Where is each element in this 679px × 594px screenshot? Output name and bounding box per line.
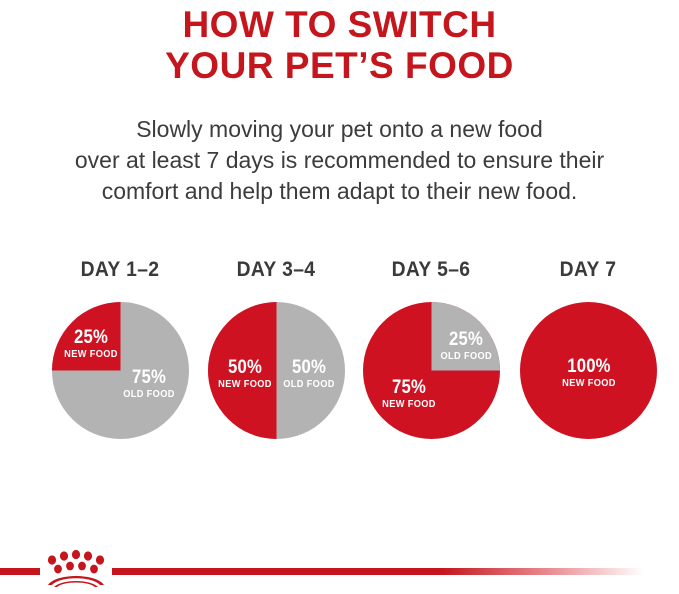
slice-label-old-food-3: 25% OLD FOOD	[440, 330, 491, 362]
slice-label-new-food-1: 25% NEW FOOD	[64, 328, 119, 360]
slice-label-new-food-4: 100% NEW FOOD	[560, 357, 618, 389]
slice-value-new-food-1: 25%	[64, 328, 119, 347]
pie-chart-row: DAY 1–2 25% NEW FOOD 75% OLD FOOD DAY 3–…	[0, 258, 679, 448]
pie-graphic-2: 50% NEW FOOD 50% OLD FOOD	[208, 302, 345, 439]
slice-label-old-food-1: 75% OLD FOOD	[120, 368, 178, 400]
slice-value-new-food-2: 50%	[218, 358, 273, 377]
title-line-1: HOW TO SWITCH	[0, 4, 679, 45]
subtitle-line-2: over at least 7 days is recommended to e…	[0, 145, 679, 176]
slice-name-new-food-1: NEW FOOD	[64, 349, 119, 360]
pie-chart-day-7: DAY 7 100% NEW FOOD	[508, 258, 668, 448]
slice-name-new-food-2: NEW FOOD	[218, 379, 273, 390]
slice-label-new-food-2: 50% NEW FOOD	[218, 358, 273, 390]
subtitle: Slowly moving your pet onto a new food o…	[0, 114, 679, 207]
subtitle-line-3: comfort and help them adapt to their new…	[0, 176, 679, 207]
title-line-2: YOUR PET’S FOOD	[0, 45, 679, 86]
slice-name-new-food-4: NEW FOOD	[560, 378, 618, 389]
day-label-2: DAY 3–4	[202, 258, 349, 282]
pie-graphic-3: 75% NEW FOOD 25% OLD FOOD	[363, 302, 500, 439]
page-title: HOW TO SWITCH YOUR PET’S FOOD	[0, 4, 679, 86]
royal-canin-crown-logo-icon	[44, 549, 108, 587]
pie-svg-3	[363, 302, 500, 439]
slice-value-old-food-2: 50%	[282, 358, 337, 377]
slice-label-old-food-2: 50% OLD FOOD	[282, 358, 337, 390]
day-label-4: DAY 7	[514, 258, 661, 282]
footer	[0, 540, 679, 594]
pie-chart-day-3-4: DAY 3–4 50% NEW FOOD 50% OLD FOOD	[196, 258, 356, 448]
pie-chart-day-1-2: DAY 1–2 25% NEW FOOD 75% OLD FOOD	[40, 258, 200, 448]
slice-name-new-food-3: NEW FOOD	[381, 399, 437, 410]
pie-graphic-1: 25% NEW FOOD 75% OLD FOOD	[52, 302, 189, 439]
slice-value-new-food-4: 100%	[560, 357, 618, 376]
footer-rule-right	[112, 568, 644, 575]
slice-value-old-food-3: 25%	[440, 330, 491, 349]
slice-label-new-food-3: 75% NEW FOOD	[381, 378, 437, 410]
slice-name-old-food-3: OLD FOOD	[440, 351, 491, 362]
slice-name-old-food-2: OLD FOOD	[282, 379, 337, 390]
pie-graphic-4: 100% NEW FOOD	[520, 302, 657, 439]
pie-chart-day-5-6: DAY 5–6 75% NEW FOOD 25% OLD FOOD	[351, 258, 511, 448]
infographic-page: HOW TO SWITCH YOUR PET’S FOOD Slowly mov…	[0, 0, 679, 594]
slice-value-old-food-1: 75%	[120, 368, 178, 387]
day-label-3: DAY 5–6	[357, 258, 504, 282]
subtitle-line-1: Slowly moving your pet onto a new food	[0, 114, 679, 145]
slice-value-new-food-3: 75%	[381, 378, 437, 397]
crown-icon	[44, 549, 108, 587]
slice-name-old-food-1: OLD FOOD	[120, 389, 178, 400]
footer-rule-left	[0, 568, 40, 575]
day-label-1: DAY 1–2	[46, 258, 193, 282]
